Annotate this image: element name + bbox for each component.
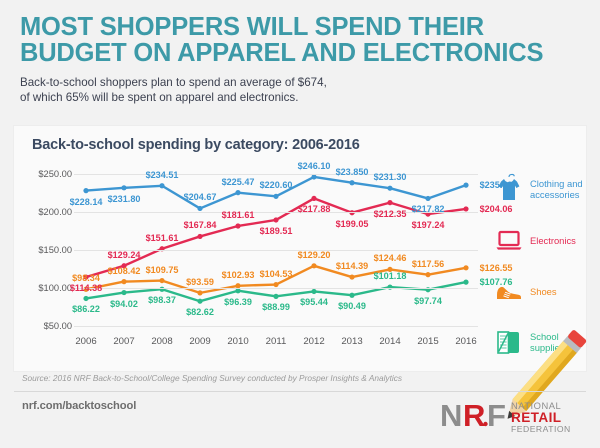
sneaker-icon (492, 274, 526, 308)
x-axis-tick-label: 2015 (417, 336, 438, 347)
data-point-label: $231.30 (374, 172, 407, 182)
data-point[interactable] (387, 186, 392, 191)
data-point[interactable] (463, 206, 468, 211)
data-point-label: $88.99 (262, 302, 290, 312)
data-point[interactable] (387, 200, 392, 205)
data-point[interactable] (463, 265, 468, 270)
data-point[interactable] (349, 180, 354, 185)
data-point[interactable] (197, 206, 202, 211)
x-axis-tick-label: 2008 (151, 336, 172, 347)
data-point[interactable] (273, 294, 278, 299)
subheading: Back-to-school shoppers plan to spend an… (20, 75, 580, 105)
data-point-label: $212.35 (374, 209, 407, 219)
data-point-label: $220.60 (260, 180, 293, 190)
footer-divider (14, 391, 586, 392)
data-point[interactable] (121, 290, 126, 295)
subheading-line-2: of which 65% will be spent on apparel an… (20, 90, 580, 105)
data-point-label: $124.46 (374, 253, 407, 263)
legend-label-shoes: Shoes (530, 286, 557, 297)
data-point-label: $93.59 (186, 277, 214, 287)
data-point-label: $217.88 (298, 204, 331, 214)
data-point-label: $189.51 (260, 226, 293, 236)
data-point-label: $181.61 (222, 210, 255, 220)
data-point-label: $96.39 (224, 297, 252, 307)
data-point-label: $114.38 (70, 283, 102, 293)
legend-label-school-supplies: School supplies (530, 331, 584, 353)
tank-top-icon (492, 172, 526, 206)
data-point-label: $129.20 (298, 250, 331, 260)
data-point-label: $114.39 (336, 261, 368, 271)
data-point-label: $228.14 (70, 197, 103, 207)
laptop-icon (492, 223, 526, 257)
x-axis-tick-label: 2011 (266, 336, 287, 347)
data-point-label: $104.53 (260, 269, 293, 279)
data-point-label: $109.75 (146, 265, 179, 275)
y-axis-tick-label: $50.00 (44, 321, 72, 331)
logo-word-retail: RETAIL (511, 410, 561, 425)
data-point[interactable] (83, 188, 88, 193)
data-point[interactable] (311, 289, 316, 294)
data-point-label: $204.67 (184, 192, 217, 202)
x-axis-tick-label: 2007 (113, 336, 134, 347)
data-point[interactable] (197, 290, 202, 295)
data-point-label: $246.10 (298, 161, 331, 171)
data-point-label: $95.44 (300, 297, 328, 307)
data-point[interactable] (425, 272, 430, 277)
data-point-label: $94.02 (110, 299, 138, 309)
x-axis-tick-label: 2016 (455, 336, 476, 347)
y-axis-tick-label: $250.00 (38, 169, 72, 179)
logo-letter-n: N (440, 398, 462, 433)
legend-item-school-supplies[interactable]: School supplies (492, 325, 584, 359)
data-point[interactable] (273, 194, 278, 199)
x-axis-tick-label: 2014 (379, 336, 400, 347)
data-point[interactable] (83, 296, 88, 301)
data-point-label: $86.22 (72, 304, 100, 314)
data-point-label: $101.18 (374, 271, 407, 281)
page-title: MOST SHOPPERS WILL SPEND THEIR BUDGET ON… (20, 14, 580, 66)
x-axis-tick-label: 2012 (303, 336, 324, 347)
data-point[interactable] (235, 223, 240, 228)
data-point[interactable] (273, 282, 278, 287)
data-point[interactable] (349, 274, 354, 279)
data-point[interactable] (159, 183, 164, 188)
data-point[interactable] (425, 196, 430, 201)
data-point-label: $129.24 (108, 250, 141, 260)
data-point-label: $97.74 (414, 296, 442, 306)
legend-item-electronics[interactable]: Electronics (492, 223, 584, 257)
y-axis-tick-label: $200.00 (38, 207, 72, 217)
data-point[interactable] (311, 174, 316, 179)
line-chart-plot: $50.00$100.00$150.00$200.00$250.00200620… (74, 174, 478, 326)
gridline (74, 174, 478, 175)
data-point[interactable] (349, 293, 354, 298)
chart-title: Back-to-school spending by category: 200… (32, 137, 360, 153)
data-point[interactable] (159, 278, 164, 283)
data-point[interactable] (311, 263, 316, 268)
data-point-label: $167.84 (184, 220, 217, 230)
data-point-label: $98.37 (148, 295, 176, 305)
data-point-label: $23.850 (336, 167, 369, 177)
chart-card: Back-to-school spending by category: 200… (14, 126, 586, 371)
x-axis-tick-label: 2006 (75, 336, 96, 347)
data-point-label: $90.49 (338, 301, 366, 311)
data-point-label: $108.42 (108, 266, 141, 276)
x-axis-tick-label: 2009 (189, 336, 210, 347)
gridline (74, 326, 478, 327)
data-point-label: $217.82 (412, 204, 445, 214)
chart-legend: Clothing andaccessories Electronics (492, 172, 584, 376)
legend-item-clothing[interactable]: Clothing andaccessories (492, 172, 584, 206)
data-point-label: $225.47 (222, 177, 255, 187)
infographic-page: MOST SHOPPERS WILL SPEND THEIR BUDGET ON… (0, 0, 600, 448)
series-line (86, 198, 466, 277)
data-point-label: $231.80 (108, 194, 141, 204)
gridline (74, 288, 478, 289)
data-point-label: $197.24 (412, 220, 445, 230)
headline-line-2: BUDGET ON APPAREL AND ELECTRONICS (20, 40, 580, 66)
footer-url[interactable]: nrf.com/backtoschool (22, 400, 136, 412)
data-point[interactable] (197, 299, 202, 304)
x-axis-tick-label: 2013 (341, 336, 362, 347)
book-icon (492, 325, 526, 359)
data-point[interactable] (463, 183, 468, 188)
data-point[interactable] (463, 280, 468, 285)
source-note: Source: 2016 NRF Back-to-School/College … (22, 373, 402, 383)
y-axis-tick-label: $100.00 (38, 283, 72, 293)
legend-label-clothing: Clothing andaccessories (530, 178, 583, 200)
data-point[interactable] (273, 217, 278, 222)
data-point[interactable] (197, 234, 202, 239)
x-axis-tick-label: 2010 (227, 336, 248, 347)
headline-line-1: MOST SHOPPERS WILL SPEND THEIR (20, 13, 484, 41)
header: MOST SHOPPERS WILL SPEND THEIR BUDGET ON… (0, 0, 600, 105)
data-point-label: $102.93 (222, 270, 255, 280)
nrf-logo: N R F NATIONAL RETAIL FEDERATION (440, 396, 590, 436)
data-point[interactable] (311, 196, 316, 201)
data-point-label: $151.61 (146, 233, 179, 243)
data-point-label: $199.05 (336, 219, 369, 229)
data-point-label: $98.34 (72, 273, 100, 283)
data-point-label: $82.62 (186, 307, 214, 317)
logo-word-federation: FEDERATION (511, 424, 571, 434)
logo-letter-r: R (463, 398, 485, 433)
data-point[interactable] (235, 190, 240, 195)
legend-item-shoes[interactable]: Shoes (492, 274, 584, 308)
data-point[interactable] (121, 185, 126, 190)
logo-letter-f: F (487, 398, 506, 433)
legend-label-electronics: Electronics (530, 235, 576, 246)
data-point-label: $234.51 (146, 170, 179, 180)
data-point[interactable] (121, 279, 126, 284)
subheading-line-1: Back-to-school shoppers plan to spend an… (20, 75, 580, 90)
data-point-label: $117.56 (412, 259, 444, 269)
y-axis-tick-label: $150.00 (38, 245, 72, 255)
